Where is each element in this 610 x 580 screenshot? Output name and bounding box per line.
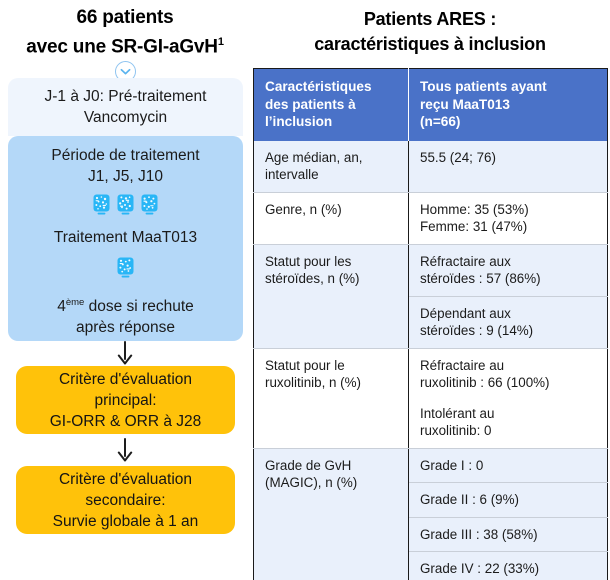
row-label-line2: (MAGIC), n (%) xyxy=(265,474,398,492)
capsule-icon xyxy=(117,194,134,221)
row-value-line1: Grade II : 6 (9%) xyxy=(420,491,597,509)
relapse-dose-text: dose si rechute xyxy=(84,298,193,315)
row-label: Statut pour le ruxolitinib, n (%) xyxy=(254,348,409,448)
characteristics-table: Caractéristiques des patients à l’inclus… xyxy=(253,68,608,580)
row-value-line1: Réfractaire aux xyxy=(420,253,597,271)
flow-title-line2: avec une SR-GI-aGvH1 xyxy=(0,30,250,59)
table-header-characteristics: Caractéristiques des patients à l’inclus… xyxy=(254,69,409,141)
row-value: Grade I : 0 xyxy=(409,448,608,483)
row-value: Réfractaire au ruxolitinib : 66 (100%) I… xyxy=(409,348,608,448)
row-value-line1: 55.5 (24; 76) xyxy=(420,149,597,167)
table-body: Age médian, an, intervalle 55.5 (24; 76)… xyxy=(254,141,608,580)
row-value-line1: Réfractaire au xyxy=(420,357,597,375)
relapse-dose-ordinal: ème xyxy=(66,297,84,308)
row-value-line2: stéroïdes : 57 (86%) xyxy=(420,270,597,288)
row-label-line2: ruxolitinib, n (%) xyxy=(265,374,398,392)
row-value-line1: Homme: 35 (53%) xyxy=(420,201,597,219)
flow-title-line2-prefix: avec une xyxy=(26,36,111,57)
row-value-line2: ruxolitinib : 66 (100%) xyxy=(420,374,597,392)
row-value-line2: Femme: 31 (47%) xyxy=(420,218,597,236)
table-row: Statut pour le ruxolitinib, n (%) Réfrac… xyxy=(254,348,608,448)
flow-title-superscript: 1 xyxy=(218,36,224,48)
row-value: Réfractaire aux stéroïdes : 57 (86%) xyxy=(409,244,608,296)
header-col2-line1: Tous patients ayant xyxy=(420,78,597,96)
row-label-line2: intervalle xyxy=(265,166,398,184)
dose-icon-row-extra xyxy=(117,257,134,284)
row-value: 55.5 (24; 76) xyxy=(409,141,608,193)
table-title-line1: Patients ARES : xyxy=(250,7,610,32)
relapse-dose-line2: après réponse xyxy=(76,317,175,338)
row-value-line3: Intolérant au xyxy=(420,405,597,423)
treatment-line2: J1, J5, J10 xyxy=(88,166,163,187)
row-value: Grade III : 38 (58%) xyxy=(409,517,608,552)
row-value-line1: Dépendant aux xyxy=(420,305,597,323)
treatment-line1: Période de traitement xyxy=(51,145,199,166)
row-value-line2: stéroïdes : 9 (14%) xyxy=(420,322,597,340)
pretreatment-box: J-1 à J0: Pré-traitement Vancomycin xyxy=(8,78,243,136)
secondary-endpoint-line2: secondaire: xyxy=(85,490,165,511)
row-label-line2: stéroïdes, n (%) xyxy=(265,270,398,288)
row-value: Homme: 35 (53%) Femme: 31 (47%) xyxy=(409,192,608,244)
secondary-endpoint-line3: Survie globale à 1 an xyxy=(53,511,199,532)
header-col2-line3: (n=66) xyxy=(420,113,597,131)
secondary-endpoint-line1: Critère d'évaluation xyxy=(59,469,192,490)
table-row: Statut pour les stéroïdes, n (%) Réfract… xyxy=(254,244,608,296)
study-flow-diagram: 66 patients avec une SR-GI-aGvH1 J-1 à J… xyxy=(0,0,250,580)
table-title: Patients ARES : caractéristiques à inclu… xyxy=(250,0,610,57)
row-value: Dépendant aux stéroïdes : 9 (14%) xyxy=(409,296,608,348)
capsule-icon xyxy=(141,194,158,221)
characteristics-panel: Patients ARES : caractéristiques à inclu… xyxy=(250,0,610,580)
primary-endpoint-line3: GI-ORR & ORR à J28 xyxy=(50,411,202,432)
flow-title-line1: 66 patients xyxy=(76,7,173,28)
row-label-line1: Grade de GvH xyxy=(265,457,398,475)
table-row: Grade de GvH (MAGIC), n (%) Grade I : 0 xyxy=(254,448,608,483)
row-value-line1: Grade III : 38 (58%) xyxy=(420,526,597,544)
flow-title-line2-term: SR-GI-aGvH xyxy=(111,36,218,57)
dose-icon-row-main xyxy=(93,194,158,221)
row-label-line1: Statut pour le xyxy=(265,357,398,375)
row-value-line1: Grade I : 0 xyxy=(420,457,597,475)
row-value-line1: Grade IV : 22 (33%) xyxy=(420,560,597,578)
capsule-icon xyxy=(93,194,110,221)
arrow-down-icon xyxy=(0,438,250,464)
row-value: Grade IV : 22 (33%) xyxy=(409,552,608,580)
header-col2-line2: reçu MaaT013 xyxy=(420,96,597,114)
relapse-dose-number: 4 xyxy=(57,298,66,315)
capsule-icon xyxy=(117,257,134,284)
row-value: Grade II : 6 (9%) xyxy=(409,483,608,518)
pretreatment-line1: J-1 à J0: Pré-traitement xyxy=(45,86,207,107)
row-label: Grade de GvH (MAGIC), n (%) xyxy=(254,448,409,580)
secondary-endpoint-box: Critère d'évaluation secondaire: Survie … xyxy=(16,466,235,534)
primary-endpoint-line1: Critère d'évaluation xyxy=(59,369,192,390)
row-label: Genre, n (%) xyxy=(254,192,409,244)
primary-endpoint-box: Critère d'évaluation principal: GI-ORR &… xyxy=(16,366,235,434)
row-label-line1: Genre, n (%) xyxy=(265,201,398,219)
row-label-line1: Age médian, an, xyxy=(265,149,398,167)
slide-root: 66 patients avec une SR-GI-aGvH1 J-1 à J… xyxy=(0,0,610,580)
arrow-down-icon xyxy=(0,341,250,367)
table-header-all-patients: Tous patients ayant reçu MaaT013 (n=66) xyxy=(409,69,608,141)
row-label: Age médian, an, intervalle xyxy=(254,141,409,193)
row-label: Statut pour les stéroïdes, n (%) xyxy=(254,244,409,348)
treatment-product-label: Traitement MaaT013 xyxy=(54,227,197,248)
flow-title: 66 patients avec une SR-GI-aGvH1 xyxy=(0,0,250,59)
row-label-line1: Statut pour les xyxy=(265,253,398,271)
primary-endpoint-line2: principal: xyxy=(94,390,156,411)
table-row: Age médian, an, intervalle 55.5 (24; 76) xyxy=(254,141,608,193)
treatment-period-box: Période de traitement J1, J5, J10 xyxy=(8,136,243,341)
table-header-row: Caractéristiques des patients à l’inclus… xyxy=(254,69,608,141)
table-title-line2: caractéristiques à inclusion xyxy=(250,32,610,57)
relapse-dose-line1: 4ème dose si rechute xyxy=(57,292,194,317)
table-row: Genre, n (%) Homme: 35 (53%) Femme: 31 (… xyxy=(254,192,608,244)
pretreatment-line2: Vancomycin xyxy=(84,107,167,128)
row-value-line4: ruxolitinib: 0 xyxy=(420,422,597,440)
